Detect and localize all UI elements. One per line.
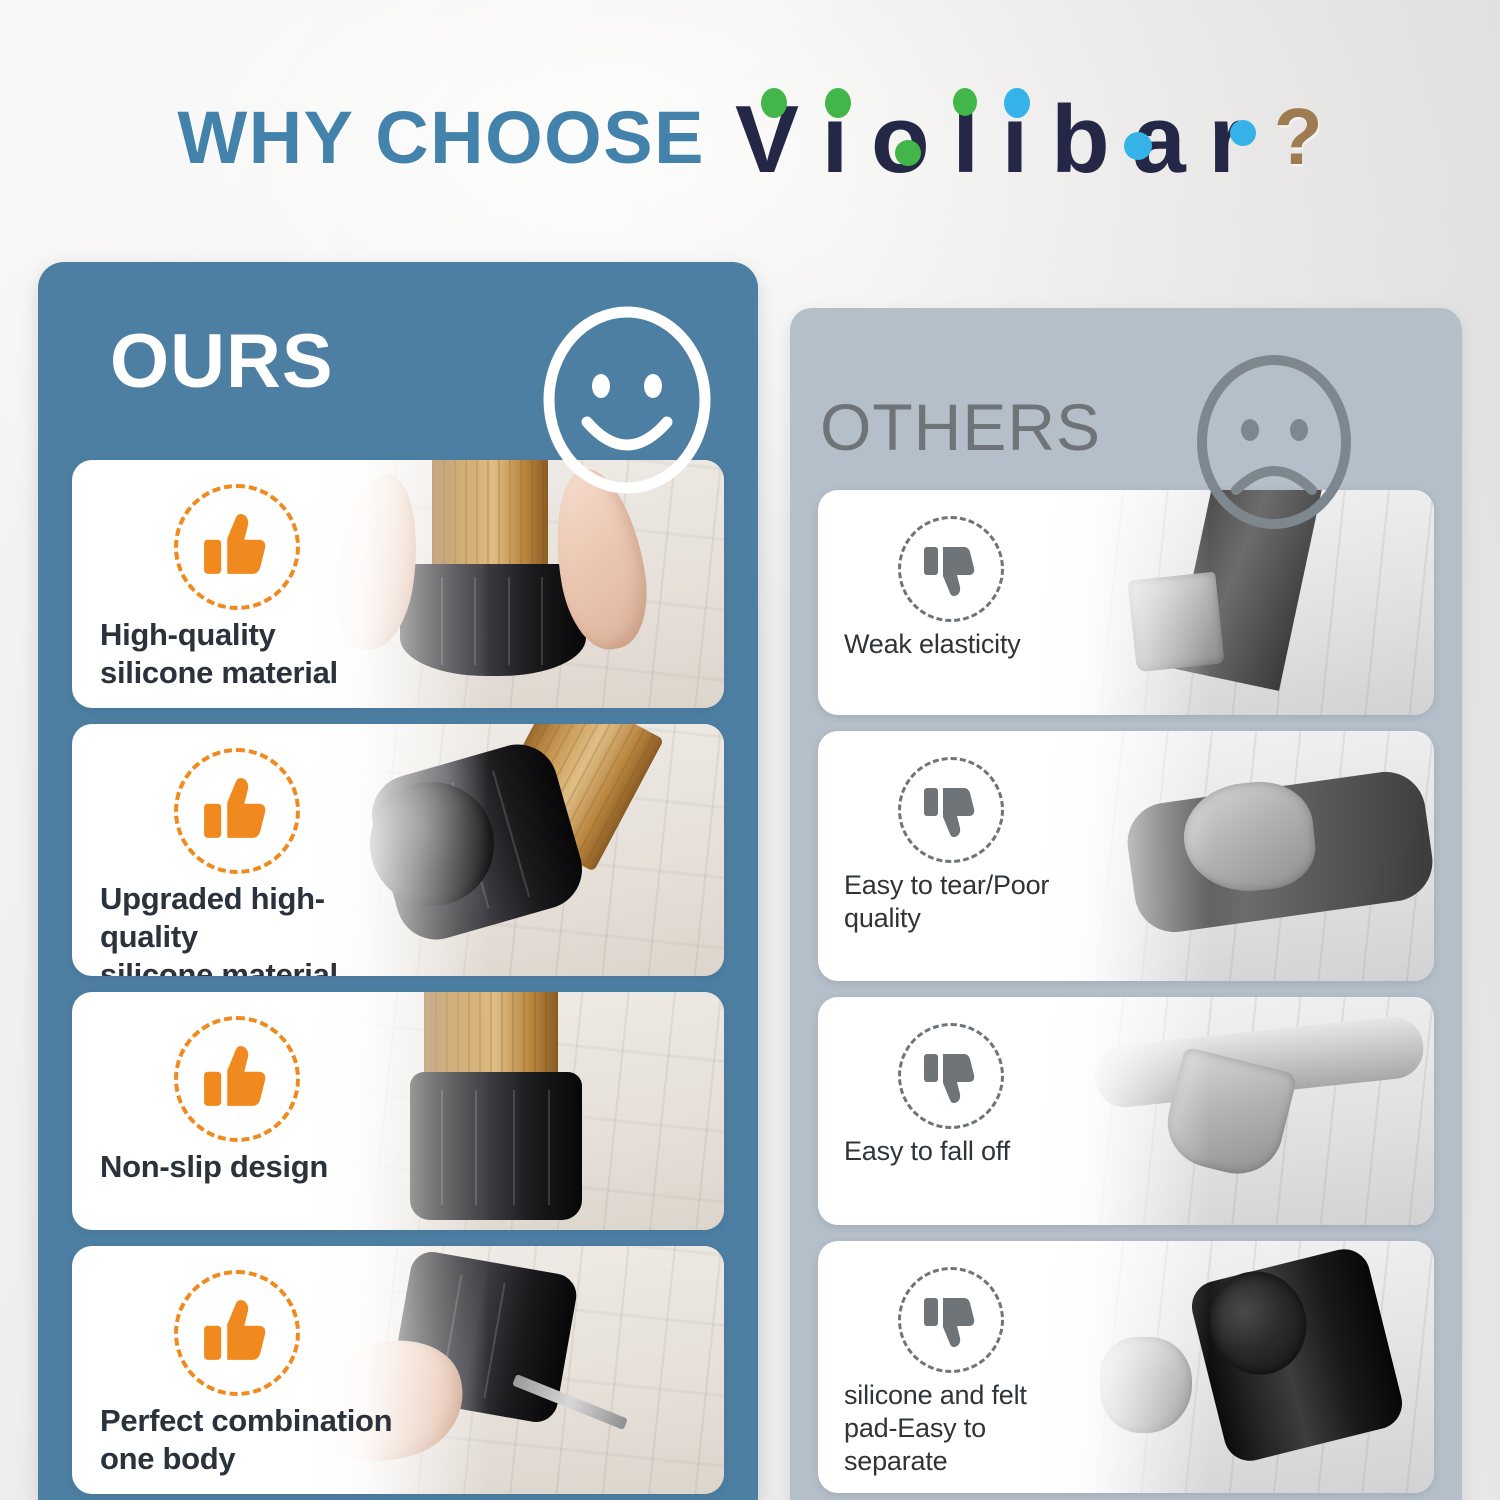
black-non-slip-cup	[410, 1072, 582, 1220]
logo-letter-o: o	[871, 92, 928, 188]
ours-card-3-label-line1: Non-slip design	[100, 1148, 402, 1186]
thumbs-down-icon-badge	[898, 1267, 1004, 1373]
others-card-1-content: Weak elasticity	[818, 490, 1088, 715]
logo-dot-cyan-r	[1230, 120, 1256, 146]
ours-card-1-content: High-quality silicone material	[72, 460, 402, 708]
question-mark: ?	[1274, 91, 1323, 183]
others-card-1-label: Weak elasticity	[844, 628, 1088, 661]
loose-slipping-cover	[1127, 572, 1224, 673]
thumbs-down-icon-badge	[898, 757, 1004, 863]
black-silicone-cup	[400, 564, 586, 676]
gray-floor-backdrop	[1034, 997, 1434, 1225]
ours-panel-header: OURS	[38, 262, 758, 462]
ours-card-1-label-line1: High-quality	[100, 616, 402, 654]
wooden-chair-leg	[424, 992, 558, 1078]
others-card-4-content: silicone and felt pad-Easy to separate	[818, 1241, 1088, 1493]
ours-card-1-label-line2: silicone material	[100, 654, 402, 692]
wooden-chair-leg	[486, 724, 664, 872]
gray-floor-highlight	[1100, 1337, 1192, 1433]
ours-card-4-label-line1: Perfect combination	[100, 1402, 402, 1440]
ours-card-4-content: Perfect combination one body	[72, 1246, 402, 1494]
thumbs-down-icon-badge	[898, 516, 1004, 622]
others-card-3-content: Easy to fall off	[818, 997, 1088, 1225]
others-card-2-label: Easy to tear/Poor quality	[844, 869, 1088, 935]
logo-letter-v: V	[735, 92, 797, 188]
others-card-easy-to-tear[interactable]: Easy to tear/Poor quality	[818, 731, 1434, 981]
others-card-4-label-line2: pad-Easy to separate	[844, 1412, 1088, 1478]
thumbs-up-icon	[198, 1040, 276, 1118]
logo-letter-a: a	[1132, 92, 1183, 188]
others-card-3-label: Easy to fall off	[844, 1135, 1088, 1168]
others-title: OTHERS	[820, 394, 1101, 460]
others-card-3-photo	[1034, 997, 1434, 1225]
ours-card-4-label: Perfect combination one body	[100, 1402, 402, 1478]
headline-prefix: WHY CHOOSE	[177, 95, 705, 180]
screwdriver-tool	[512, 1374, 628, 1430]
others-card-weak-elasticity[interactable]: Weak elasticity	[818, 490, 1434, 715]
thumbs-down-icon	[919, 537, 983, 601]
logo-letter-r: r	[1208, 92, 1243, 188]
gray-leg-tube	[1122, 767, 1434, 937]
separating-felt-pad	[1196, 1259, 1319, 1388]
others-card-2-label-line2: quality	[844, 902, 1088, 935]
others-card-2-label-line1: Easy to tear/Poor	[844, 869, 1088, 902]
metal-leg-bar	[1092, 1014, 1427, 1110]
comparison-infographic: WHY CHOOSE V i o l i b a r ? OURS	[0, 0, 1500, 1500]
logo-letter-i1: i	[822, 92, 847, 188]
ours-card-non-slip-design[interactable]: Non-slip design	[72, 992, 724, 1230]
others-card-3-label-line1: Easy to fall off	[844, 1135, 1088, 1168]
ours-card-perfect-combination[interactable]: Perfect combination one body	[72, 1246, 724, 1494]
ours-title: OURS	[110, 324, 334, 400]
ours-card-3-label: Non-slip design	[100, 1148, 402, 1186]
thumbs-down-icon	[919, 1288, 983, 1352]
thumbs-up-icon	[198, 1294, 276, 1372]
ours-card-2-label: Upgraded high-quality silicone material	[100, 880, 402, 976]
thumbs-down-icon	[919, 1044, 983, 1108]
others-card-1-label-line1: Weak elasticity	[844, 628, 1088, 661]
ours-card-upgraded-silicone[interactable]: Upgraded high-quality silicone material	[72, 724, 724, 976]
others-panel: OTHERS	[790, 308, 1462, 1500]
gray-floor-backdrop	[1034, 731, 1434, 981]
logo-letter-o-glyph: o	[871, 86, 928, 193]
others-panel-header: OTHERS	[790, 308, 1462, 508]
thumbs-down-icon	[919, 778, 983, 842]
gray-floor-backdrop	[1034, 490, 1434, 715]
cover-falling-off	[1158, 1047, 1298, 1184]
brand-logo: V i o l i b a r	[735, 86, 1244, 188]
thumbs-up-icon-badge	[174, 748, 300, 874]
thumbs-up-icon-badge	[174, 1016, 300, 1142]
others-card-2-content: Easy to tear/Poor quality	[818, 731, 1088, 981]
right-hand-finger	[543, 462, 657, 656]
black-silicone-cover	[388, 1249, 579, 1426]
ours-card-2-label-line2: silicone material	[100, 956, 402, 976]
wooden-chair-leg	[432, 460, 548, 572]
others-card-4-label-line1: silicone and felt	[844, 1379, 1088, 1412]
gray-floor-backdrop	[1034, 1241, 1434, 1493]
ours-card-2-label-line1: Upgraded high-quality	[100, 880, 402, 956]
logo-dot-cyan-i2	[1004, 88, 1030, 118]
logo-letter-i2: i	[1002, 92, 1027, 188]
thumbs-up-icon-badge	[174, 1270, 300, 1396]
others-card-felt-pad-separates[interactable]: silicone and felt pad-Easy to separate	[818, 1241, 1434, 1493]
logo-letter-b-glyph: b	[1051, 86, 1108, 193]
ours-card-2-content: Upgraded high-quality silicone material	[72, 724, 402, 976]
ours-card-4-label-line2: one body	[100, 1440, 402, 1478]
logo-dot-green-v	[761, 88, 787, 118]
ours-card-high-quality-silicone[interactable]: High-quality silicone material	[72, 460, 724, 708]
thumbs-up-icon-badge	[174, 484, 300, 610]
others-card-4-photo	[1034, 1241, 1434, 1493]
dark-silicone-cap	[1186, 1244, 1407, 1467]
others-card-easy-to-fall-off[interactable]: Easy to fall off	[818, 997, 1434, 1225]
others-card-1-photo	[1034, 490, 1434, 715]
ours-panel: OURS	[38, 262, 758, 1500]
logo-letter-l: l	[952, 92, 977, 188]
dark-chair-leg	[1173, 490, 1322, 691]
logo-dot-green-i1	[825, 88, 851, 118]
thumbs-down-icon-badge	[898, 1023, 1004, 1129]
thumbs-up-icon	[198, 772, 276, 850]
ours-card-3-content: Non-slip design	[72, 992, 402, 1230]
ours-card-1-label: High-quality silicone material	[100, 616, 402, 692]
others-card-4-label: silicone and felt pad-Easy to separate	[844, 1379, 1088, 1478]
logo-dot-green-o	[895, 140, 921, 166]
logo-letter-b: b	[1051, 92, 1108, 188]
others-card-2-photo	[1034, 731, 1434, 981]
thumbs-up-icon	[198, 508, 276, 586]
headline: WHY CHOOSE V i o l i b a r ?	[0, 72, 1500, 202]
torn-worn-cover	[1179, 777, 1320, 898]
